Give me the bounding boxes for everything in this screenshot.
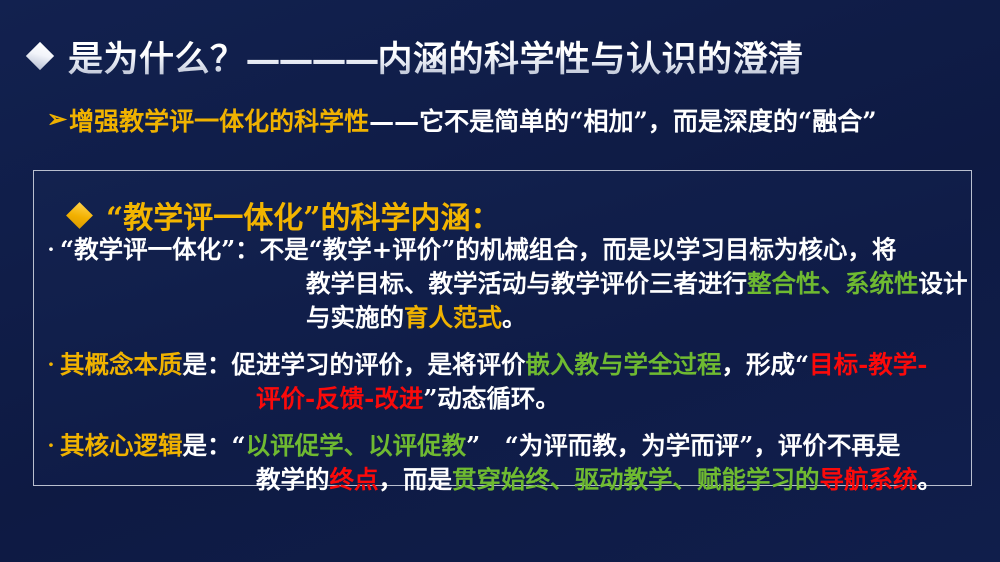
- content-box-heading-text: “教学评一体化”的科学内涵：: [106, 193, 501, 237]
- slide-title: 是为什么？————内涵的科学性与认识的澄清: [30, 30, 970, 82]
- bullet-1-line-2-white-a: 教学目标、教学活动与教学评价三者进行: [306, 269, 747, 298]
- content-box: “教学评一体化”的科学内涵： · “教学评一体化”：不是“教学+评价”的机械组合…: [33, 170, 972, 486]
- bullet-2-white-3: ”动态循环。: [423, 384, 560, 413]
- diamond-marker-icon: [26, 42, 54, 70]
- bullet-list: · “教学评一体化”：不是“教学+评价”的机械组合，而是以学习目标为核心，将 教…: [42, 233, 965, 505]
- bullet-1-line-2-white-b: 设计: [919, 269, 968, 298]
- bullet-3-white-3: 教学的: [256, 465, 330, 494]
- bullet-3-green-1: 以评促学、以评促教: [246, 431, 467, 460]
- title-question: 是为什么？: [68, 39, 246, 80]
- bullet-3-green-2: 贯穿始终、驱动教学、赋能学习的: [452, 465, 820, 494]
- bullet-1-body: “教学评一体化”：不是“教学+评价”的机械组合，而是以学习目标为核心，将 教学目…: [60, 233, 968, 334]
- slide-canvas: 是为什么？————内涵的科学性与认识的澄清 ➢ 增强教学评一体化的科学性 ——它…: [0, 0, 1000, 562]
- bullet-2-white-1: 是：促进学习的评价，是将评价: [183, 350, 526, 379]
- title-dash: ————: [246, 39, 378, 80]
- bullet-3-red-1: 终点: [330, 465, 379, 494]
- bullet-2-line-1: 其概念本质是：促进学习的评价，是将评价嵌入教与学全过程，形成“目标-教学-: [60, 348, 965, 381]
- bullet-3-white-4: ，而是: [379, 465, 453, 494]
- list-item: · 其核心逻辑是：“以评促学、以评促教” “为评而教，为学而评”，评价不再是 教…: [42, 429, 965, 496]
- bullet-1-line-3: 与实施的育人范式。: [60, 301, 968, 334]
- bullet-3-line-2: 教学的终点，而是贯穿始终、驱动教学、赋能学习的导航系统。: [60, 463, 965, 496]
- arrow-right-icon: ➢: [47, 107, 67, 131]
- bullet-1-line-3-gold: 育人范式: [404, 303, 502, 332]
- list-item: · 其概念本质是：促进学习的评价，是将评价嵌入教与学全过程，形成“目标-教学- …: [42, 348, 965, 415]
- title-tail: 内涵的科学性与认识的澄清: [378, 39, 804, 80]
- bullet-3-white-2: ” “为评而教，为学而评”，评价不再是: [466, 431, 900, 460]
- bullet-3-gold-lead: 其核心逻辑: [60, 431, 183, 460]
- bullet-dot-icon: ·: [42, 233, 60, 266]
- bullet-dot-icon: ·: [42, 348, 60, 381]
- diamond-marker-gold-icon: [66, 202, 93, 229]
- slide-subtitle: ➢ 增强教学评一体化的科学性 ——它不是简单的“相加”，而是深度的“融合”: [47, 101, 987, 139]
- bullet-3-white-5: 。: [918, 465, 943, 494]
- content-box-heading: “教学评一体化”的科学内涵：: [70, 193, 501, 237]
- bullet-1-line-1: “教学评一体化”：不是“教学+评价”的机械组合，而是以学习目标为核心，将: [60, 233, 968, 266]
- bullet-1-line-2: 教学目标、教学活动与教学评价三者进行整合性、系统性设计: [60, 267, 968, 300]
- bullet-2-white-2: ，形成“: [722, 350, 810, 379]
- bullet-2-green-1: 嵌入教与学全过程: [526, 350, 722, 379]
- bullet-2-line-2: 评价-反馈-改进”动态循环。: [60, 382, 965, 415]
- bullet-2-gold-lead: 其概念本质: [60, 350, 183, 379]
- subtitle-gold-text: 增强教学评一体化的科学性: [69, 102, 369, 138]
- list-item: · “教学评一体化”：不是“教学+评价”的机械组合，而是以学习目标为核心，将 教…: [42, 233, 965, 334]
- slide-title-text: 是为什么？————内涵的科学性与认识的澄清: [68, 31, 804, 82]
- bullet-1-line-3-white-a: 与实施的: [306, 303, 404, 332]
- bullet-3-red-2: 导航系统: [820, 465, 918, 494]
- bullet-2-red-1: 目标-教学-: [809, 350, 927, 379]
- bullet-3-line-1: 其核心逻辑是：“以评促学、以评促教” “为评而教，为学而评”，评价不再是: [60, 429, 965, 462]
- bullet-3-body: 其核心逻辑是：“以评促学、以评促教” “为评而教，为学而评”，评价不再是 教学的…: [60, 429, 965, 496]
- bullet-dot-icon: ·: [42, 429, 60, 462]
- bullet-1-line-3-white-b: 。: [502, 303, 527, 332]
- bullet-2-body: 其概念本质是：促进学习的评价，是将评价嵌入教与学全过程，形成“目标-教学- 评价…: [60, 348, 965, 415]
- bullet-3-white-1: 是：“: [183, 431, 246, 460]
- bullet-2-red-2: 评价-反馈-改进: [256, 384, 423, 413]
- subtitle-white-text: ——它不是简单的“相加”，而是深度的“融合”: [369, 102, 877, 138]
- bullet-1-line-2-green: 整合性、系统性: [747, 269, 919, 298]
